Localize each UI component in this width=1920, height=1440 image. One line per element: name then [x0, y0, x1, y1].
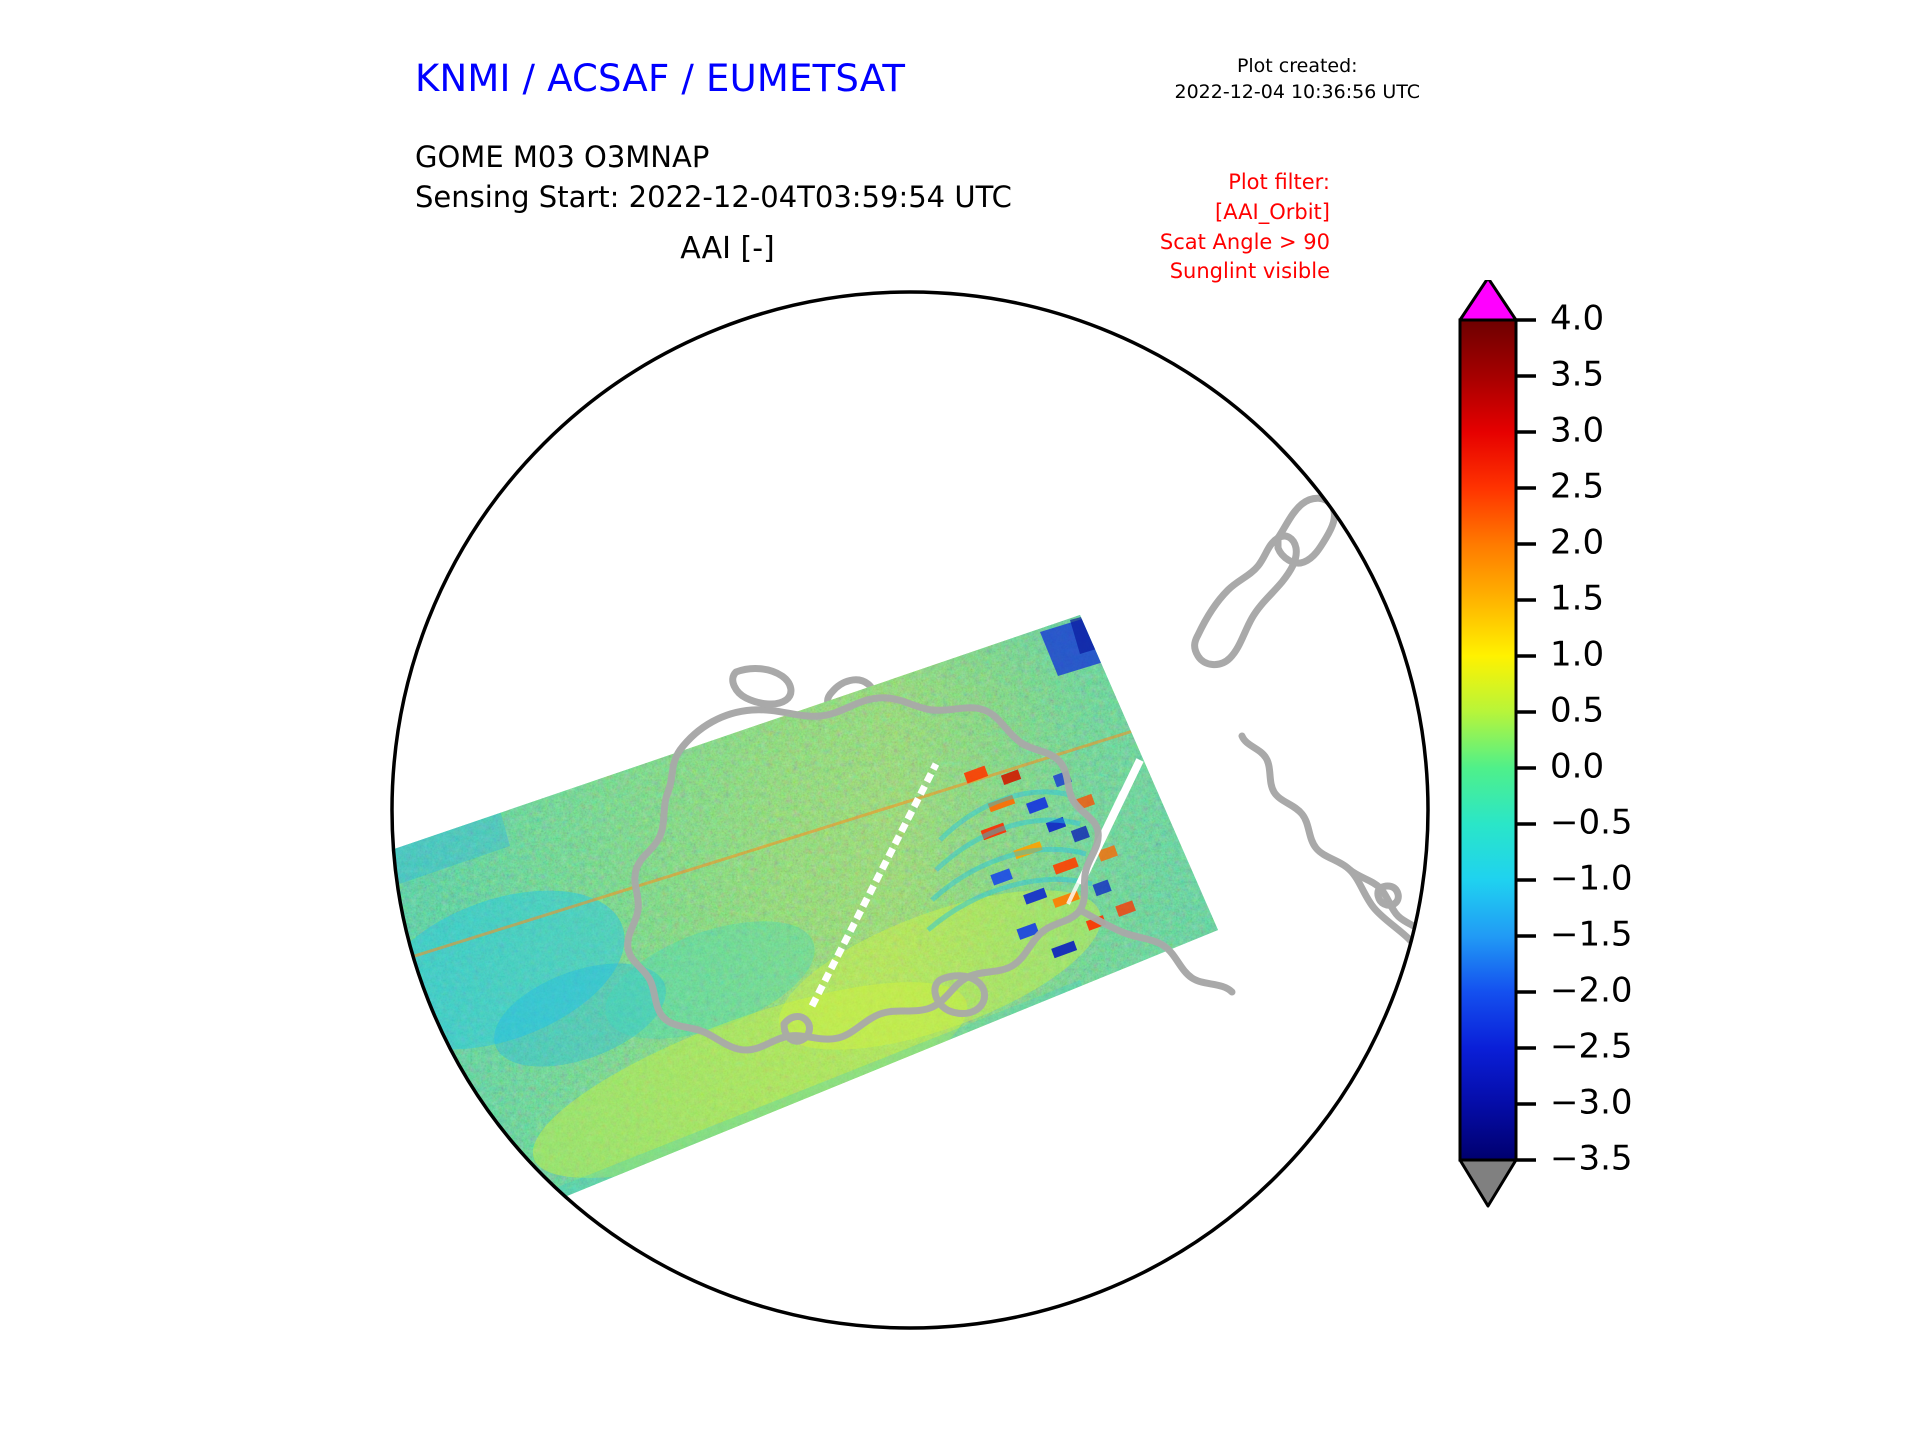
colorbar-over-range-arrow	[1460, 280, 1516, 320]
colorbar-tick-label: −3.5	[1550, 1139, 1633, 1179]
colorbar-tick-label: 4.0	[1550, 299, 1604, 339]
colorbar-under-range-arrow	[1460, 1160, 1516, 1206]
colorbar-tick-label: −2.5	[1550, 1027, 1633, 1067]
product-info-block: GOME M03 O3MNAP Sensing Start: 2022-12-0…	[415, 137, 1012, 217]
colorbar-tick-label: 2.5	[1550, 467, 1604, 507]
filter-line-3: Scat Angle > 90	[1160, 228, 1330, 258]
colorbar-tick-label: 1.5	[1550, 579, 1604, 619]
sensing-start: Sensing Start: 2022-12-04T03:59:54 UTC	[415, 177, 1012, 217]
coastline-islet-south-atlantic	[1427, 982, 1440, 1001]
plot-created-timestamp: 2022-12-04 10:36:56 UTC	[1175, 80, 1421, 106]
product-name: GOME M03 O3MNAP	[415, 137, 1012, 177]
colorbar-tick-label: 3.0	[1550, 411, 1604, 451]
plot-canvas: KNMI / ACSAF / EUMETSAT Plot created: 20…	[0, 0, 1920, 1440]
colorbar-tick-label: −1.0	[1550, 859, 1633, 899]
plot-filter-block: Plot filter: [AAI_Orbit] Scat Angle > 90…	[1160, 168, 1330, 287]
colorbar-tick-label: −1.5	[1550, 915, 1633, 955]
map-plot-area	[380, 280, 1440, 1340]
colorbar-tick-label: 3.5	[1550, 355, 1604, 395]
colorbar-tick-label: −2.0	[1550, 971, 1633, 1011]
colorbar-tick-label: 1.0	[1550, 635, 1604, 675]
plot-created-label: Plot created:	[1175, 54, 1421, 80]
filter-line-2: [AAI_Orbit]	[1160, 198, 1330, 228]
colorbar-tick-labels: 4.0 3.5 3.0 2.5 2.0 1.5 1.0 0.5 0.0 −0.5…	[1550, 299, 1633, 1179]
colorbar-tick-label: −0.5	[1550, 803, 1633, 843]
coastline-south-america-east	[1410, 940, 1440, 1000]
plot-created-block: Plot created: 2022-12-04 10:36:56 UTC	[1175, 54, 1421, 105]
filter-line-1: Plot filter:	[1160, 168, 1330, 198]
colorbar-tick-label: 0.0	[1550, 747, 1604, 787]
colorbar-gradient	[1460, 320, 1516, 1160]
colorbar: 4.0 3.5 3.0 2.5 2.0 1.5 1.0 0.5 0.0 −0.5…	[1440, 280, 1770, 1340]
colorbar-tick-label: −3.0	[1550, 1083, 1633, 1123]
colorbar-tick-label: 0.5	[1550, 691, 1604, 731]
organisation-title: KNMI / ACSAF / EUMETSAT	[415, 57, 905, 100]
colorbar-ticks	[1516, 320, 1536, 1160]
colorbar-tick-label: 2.0	[1550, 523, 1604, 563]
